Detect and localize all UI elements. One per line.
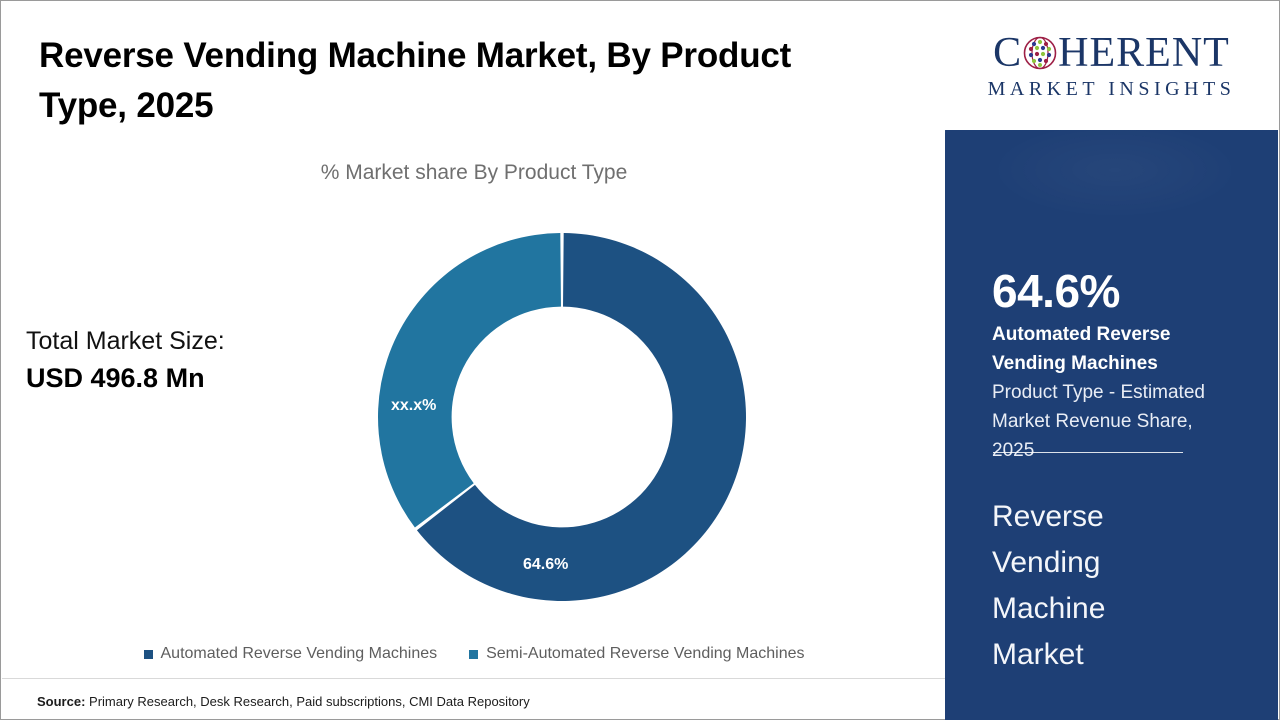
- source-text: Primary Research, Desk Research, Paid su…: [89, 694, 530, 709]
- source-note: Source: Primary Research, Desk Research,…: [37, 694, 530, 709]
- logo-tagline: MARKET INSIGHTS: [988, 78, 1236, 101]
- legend-swatch-icon: [144, 650, 153, 659]
- logo-letters-herent: HERENT: [1058, 32, 1230, 74]
- legend-label-semi-automated: Semi-Automated Reverse Vending Machines: [486, 645, 804, 663]
- chart-panel: Reverse Vending Machine Market, By Produ…: [1, 1, 947, 719]
- legend-item-semi-automated[interactable]: Semi-Automated Reverse Vending Machines: [469, 645, 804, 663]
- stat-highlight-block: 64.6% Automated Reverse Vending Machines…: [992, 264, 1254, 465]
- legend-swatch-icon: [469, 650, 478, 659]
- chart-legend: Automated Reverse Vending Machines Semi-…: [1, 645, 947, 663]
- donut-label-semi-automated: xx.x%: [391, 397, 436, 414]
- panel-headline-line3: Machine: [992, 586, 1242, 632]
- globe-icon: [1023, 36, 1057, 70]
- panel-headline-line4: Market: [992, 632, 1242, 678]
- side-panel: C: [945, 2, 1278, 720]
- infographic-canvas: Reverse Vending Machine Market, By Produ…: [0, 0, 1280, 720]
- stat-segment-name: Automated Reverse Vending Machines: [992, 320, 1254, 378]
- chart-subtitle: % Market share By Product Type: [1, 161, 947, 185]
- donut-chart: xx.x% 64.6%: [376, 231, 748, 603]
- source-divider: [2, 678, 946, 679]
- stat-underline-rule: [993, 452, 1183, 453]
- donut-label-automated: 64.6%: [523, 556, 568, 573]
- panel-headline: Reverse Vending Machine Market: [992, 494, 1242, 678]
- stat-description-line1: Product Type - Estimated: [992, 378, 1254, 407]
- donut-chart-svg: xx.x% 64.6%: [376, 231, 748, 603]
- brand-logo[interactable]: C: [945, 2, 1278, 130]
- panel-headline-line2: Vending: [992, 540, 1242, 586]
- total-market-size-value: USD 496.8 Mn: [26, 359, 326, 397]
- stat-segment-name-line2: Vending Machines: [992, 349, 1254, 378]
- legend-item-automated[interactable]: Automated Reverse Vending Machines: [144, 645, 438, 663]
- panel-headline-line1: Reverse: [992, 494, 1242, 540]
- total-market-size-block: Total Market Size: USD 496.8 Mn: [26, 323, 326, 397]
- total-market-size-label: Total Market Size:: [26, 323, 326, 359]
- logo-letter-c: C: [993, 32, 1022, 74]
- source-prefix: Source:: [37, 694, 85, 709]
- stat-description-line3: 2025: [992, 436, 1254, 465]
- logo-wordmark: C: [993, 32, 1230, 74]
- page-title: Reverse Vending Machine Market, By Produ…: [39, 31, 869, 131]
- stat-description-line2: Market Revenue Share,: [992, 407, 1254, 436]
- stat-segment-name-line1: Automated Reverse: [992, 320, 1254, 349]
- stat-percent-value: 64.6%: [992, 264, 1254, 318]
- legend-label-automated: Automated Reverse Vending Machines: [161, 645, 438, 663]
- donut-slice-semi-automated[interactable]: [378, 233, 561, 528]
